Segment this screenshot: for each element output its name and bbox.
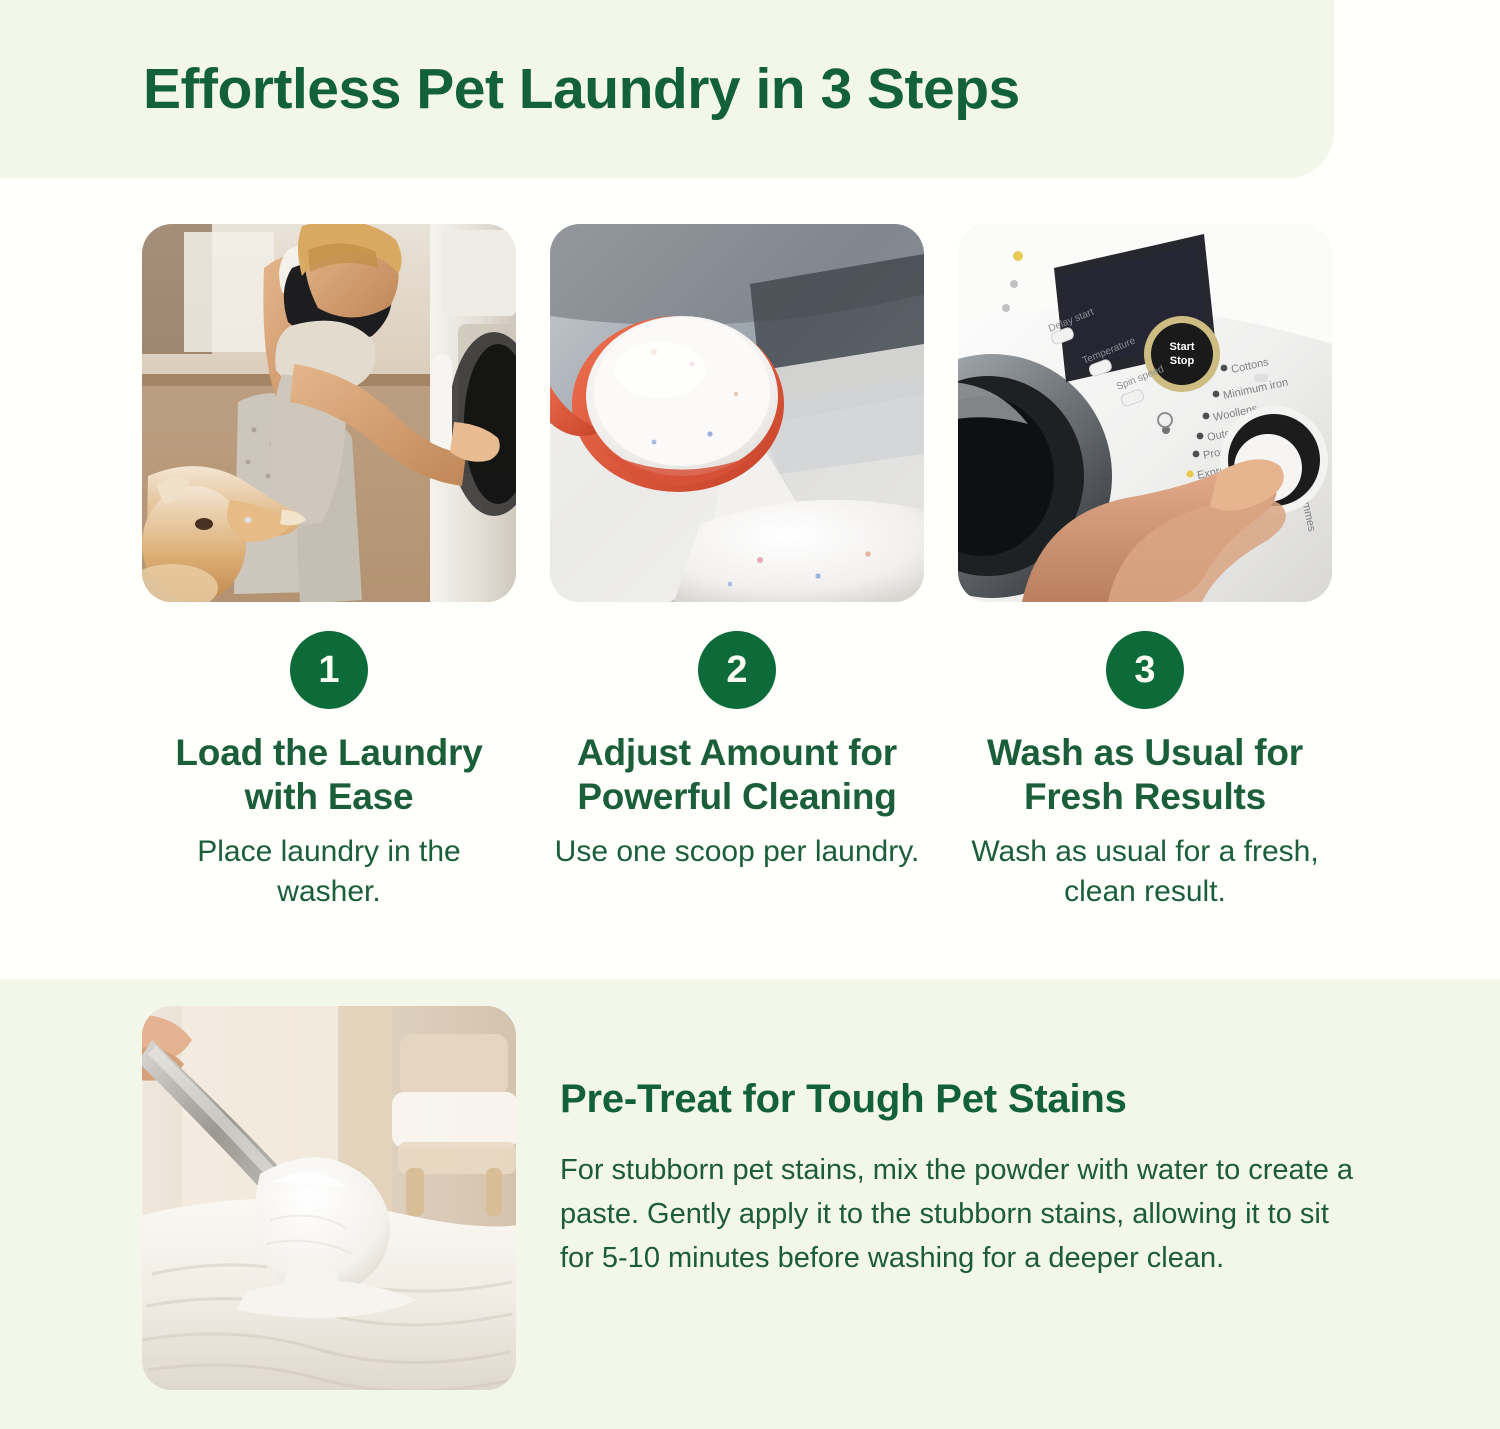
header-band: Effortless Pet Laundry in 3 Steps — [0, 0, 1334, 178]
pretreat-image-paste-spoon — [142, 1006, 516, 1390]
pretreat-body: For stubborn pet stains, mix the powder … — [560, 1148, 1358, 1280]
pretreat-title: Pre-Treat for Tough Pet Stains — [560, 1076, 1358, 1122]
pretreat-inner: Pre-Treat for Tough Pet Stains For stubb… — [142, 1006, 1358, 1390]
step-image-load-laundry — [142, 224, 516, 602]
step-image-detergent-scoop — [550, 224, 924, 602]
page-title: Effortless Pet Laundry in 3 Steps — [0, 58, 1020, 121]
step-number-badge-1: 1 — [290, 631, 368, 709]
step-title-3: Wash as Usual for Fresh Results — [965, 731, 1325, 818]
steps-row: 1 Load the Laundry with Ease Place laund… — [142, 224, 1334, 912]
step-card-3: Start Stop Cottons Minimum iron Woollens… — [958, 224, 1332, 912]
step-title-1: Load the Laundry with Ease — [149, 731, 509, 818]
step-card-1: 1 Load the Laundry with Ease Place laund… — [142, 224, 516, 912]
pretreat-text: Pre-Treat for Tough Pet Stains For stubb… — [560, 1006, 1358, 1390]
step-title-2: Adjust Amount for Powerful Cleaning — [557, 731, 917, 818]
step-description-1: Place laundry in the washer. — [142, 832, 516, 912]
step-description-3: Wash as usual for a fresh, clean result. — [958, 832, 1332, 912]
step-image-washer-controls: Start Stop Cottons Minimum iron Woollens… — [958, 224, 1332, 602]
step-card-2: 2 Adjust Amount for Powerful Cleaning Us… — [550, 224, 924, 912]
svg-text:Stop: Stop — [1170, 355, 1195, 367]
step-number-badge-2: 2 — [698, 631, 776, 709]
svg-text:Start: Start — [1169, 341, 1194, 353]
pretreat-section: Pre-Treat for Tough Pet Stains For stubb… — [0, 979, 1500, 1429]
step-description-2: Use one scoop per laundry. — [555, 832, 920, 872]
steps-section: 1 Load the Laundry with Ease Place laund… — [0, 178, 1500, 979]
step-number-badge-3: 3 — [1106, 631, 1184, 709]
